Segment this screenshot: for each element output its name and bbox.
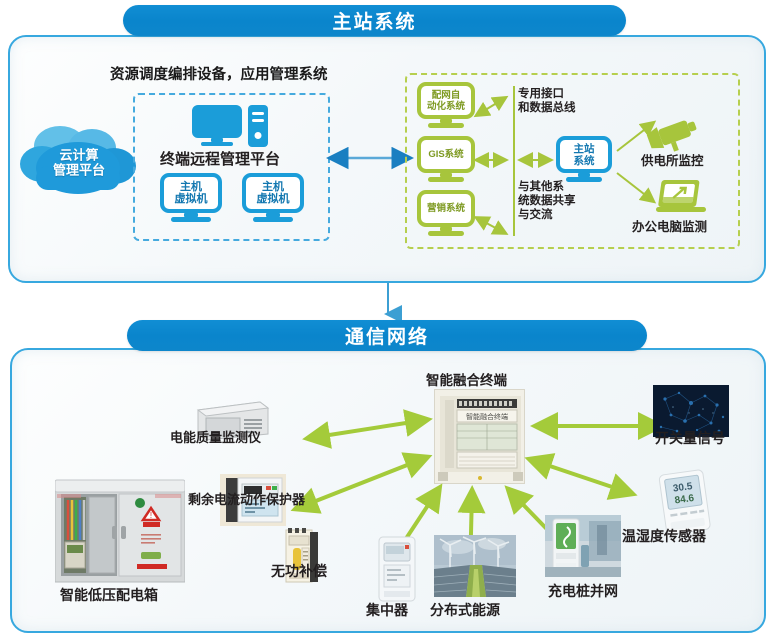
cctv-camera-icon (646, 116, 700, 152)
master-station-hub-icon: 主站 系统 (556, 136, 612, 184)
bus-note-1: 专用接口 和数据总线 (518, 87, 576, 115)
device-label-power-quality-analyzer: 电能质量监测仪 (170, 427, 261, 446)
svg-text:!: ! (150, 511, 152, 520)
banner-master-system-label: 主站系统 (332, 7, 416, 34)
computer-tower-icon (248, 105, 268, 147)
device-label-distributed-energy: 分布式能源 (430, 600, 500, 620)
laptop-icon (652, 178, 708, 218)
diagram-root: 主站系统 资源调度编排设备，应用管理系统 云计算 管理平台 终端远程管理平台 (0, 0, 774, 638)
bus-note-2-line3: 与交流 (518, 208, 576, 222)
cloud-icon (18, 118, 140, 202)
ev-charging-photo (545, 515, 621, 577)
platform-title: 终端远程管理平台 (160, 148, 280, 169)
vm-2-label-line1: 主机 (257, 181, 290, 193)
endpoint-label-power-supply-monitor: 供电所监控 (641, 150, 704, 169)
hub-label-line2: 系统 (574, 155, 595, 167)
device-label-residual-current-protector: 剩余电流动作保护器 (188, 489, 305, 508)
device-label-concentrator: 集中器 (366, 600, 408, 620)
endpoint-label-office-pc-monitor: 办公电脑监测 (632, 216, 707, 235)
device-label-ev-charging: 充电桩并网 (548, 581, 618, 601)
low-voltage-cabinet-photo: ! (55, 478, 185, 588)
vm-icon-2: 主机 虚拟机 (242, 173, 304, 225)
bus-note-2: 与其他系 统数据共享 与交流 (518, 180, 576, 222)
banner-communication-network: 通信网络 (127, 320, 647, 351)
device-label-reactive-compensation: 无功补偿 (271, 561, 327, 581)
hub-label-line1: 主站 (574, 143, 595, 155)
cloud-computing-platform: 云计算 管理平台 (18, 118, 140, 202)
vm-1-label-line2: 虚拟机 (175, 193, 208, 205)
vm-2-label-line2: 虚拟机 (257, 193, 290, 205)
section-connector-arrow (378, 283, 398, 325)
device-label-digital-signal: 开关量信号 (655, 428, 725, 448)
bus-note-1-line2: 和数据总线 (518, 101, 576, 115)
vm-icon-1: 主机 虚拟机 (160, 173, 222, 225)
bus-note-2-line2: 统数据共享 (518, 194, 576, 208)
banner-communication-network-label: 通信网络 (345, 322, 429, 349)
desktop-monitor-icon (192, 105, 242, 147)
banner-master-system: 主站系统 (123, 5, 626, 36)
left-section-title: 资源调度编排设备，应用管理系统 (110, 63, 328, 84)
wind-solar-photo (434, 535, 516, 597)
bidirectional-arrow-center (334, 148, 406, 168)
bus-note-1-line1: 专用接口 (518, 87, 576, 101)
concentrator-photo (377, 535, 417, 603)
device-label-low-voltage-cabinet: 智能低压配电箱 (60, 585, 158, 605)
device-label-temp-humidity-sensor: 温湿度传感器 (622, 526, 706, 546)
vm-1-label-line1: 主机 (175, 181, 208, 193)
